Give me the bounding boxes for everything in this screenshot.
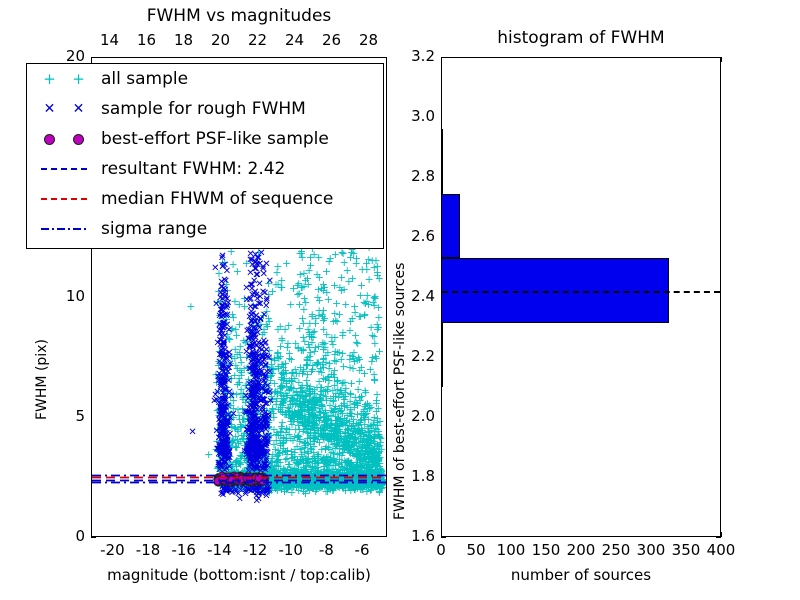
scatter-point-rough-fwhm: ✕	[262, 441, 270, 449]
scatter-point-rough-fwhm: ✕	[229, 411, 237, 419]
scatter-point-rough-fwhm: ✕	[261, 290, 269, 298]
scatter-point-all-sample: +	[321, 488, 330, 496]
scatter-point-rough-fwhm: ✕	[262, 340, 270, 348]
scatter-point-rough-fwhm: ✕	[255, 325, 263, 333]
scatter-point-all-sample: +	[186, 303, 195, 311]
scatter-point-all-sample: +	[276, 440, 285, 448]
scatter-point-all-sample: +	[306, 262, 315, 270]
scatter-point-all-sample: +	[317, 446, 326, 454]
scatter-point-rough-fwhm: ✕	[258, 359, 266, 367]
scatter-point-all-sample: +	[300, 387, 309, 395]
scatter-point-all-sample: +	[367, 358, 376, 366]
scatter-point-all-sample: +	[339, 363, 348, 371]
scatter-point-all-sample: +	[282, 260, 291, 268]
scatter-point-all-sample: +	[340, 379, 349, 387]
scatter-point-rough-fwhm: ✕	[219, 487, 227, 495]
scatter-point-rough-fwhm: ✕	[266, 278, 274, 286]
scatter-point-rough-fwhm: ✕	[256, 301, 264, 309]
scatter-point-all-sample: +	[301, 415, 310, 423]
scatter-point-all-sample: +	[343, 402, 352, 410]
scatter-point-all-sample: +	[337, 249, 346, 257]
scatter-point-all-sample: +	[364, 256, 373, 264]
scatter-point-all-sample: +	[369, 371, 378, 379]
scatter-point-all-sample: +	[339, 286, 348, 294]
scatter-point-rough-fwhm: ✕	[214, 374, 222, 382]
figure-canvas: FWHM vs magnitudes 1416182022242628 -20-…	[0, 0, 800, 600]
scatter-point-all-sample: +	[284, 431, 293, 439]
scatter-point-all-sample: +	[338, 329, 347, 337]
scatter-point-rough-fwhm: ✕	[218, 350, 226, 358]
scatter-point-rough-fwhm: ✕	[223, 268, 231, 276]
y-tick-label: 10	[47, 287, 85, 305]
scatter-point-all-sample: +	[284, 322, 293, 330]
scatter-point-all-sample: +	[353, 386, 362, 394]
scatter-point-all-sample: +	[338, 419, 347, 427]
scatter-point-rough-fwhm: ✕	[263, 422, 271, 430]
scatter-point-rough-fwhm: ✕	[246, 251, 254, 259]
scatter-point-all-sample: +	[276, 323, 285, 331]
scatter-point-rough-fwhm: ✕	[256, 316, 264, 324]
scatter-point-rough-fwhm: ✕	[224, 403, 232, 411]
scatter-point-rough-fwhm: ✕	[223, 303, 231, 311]
scatter-point-rough-fwhm: ✕	[259, 266, 267, 274]
scatter-point-all-sample: +	[299, 306, 308, 314]
scatter-point-all-sample: +	[293, 434, 302, 442]
left-panel-ylabel: FWHM (pix)	[34, 339, 50, 420]
scatter-point-all-sample: +	[366, 422, 375, 430]
scatter-point-all-sample: +	[272, 269, 281, 277]
tick-mark-y	[91, 537, 96, 538]
scatter-point-all-sample: +	[296, 364, 305, 372]
scatter-point-all-sample: +	[285, 355, 294, 363]
scatter-point-all-sample: +	[353, 411, 362, 419]
scatter-point-all-sample: +	[350, 425, 359, 433]
scatter-point-all-sample: +	[370, 340, 379, 348]
scatter-point-all-sample: +	[310, 394, 319, 402]
scatter-point-all-sample: +	[327, 334, 336, 342]
scatter-point-all-sample: +	[332, 378, 341, 386]
scatter-point-all-sample: +	[314, 343, 323, 351]
x-top-tick-label: 28	[347, 31, 391, 49]
scatter-point-rough-fwhm: ✕	[250, 278, 258, 286]
scatter-point-all-sample: +	[360, 370, 369, 378]
scatter-point-all-sample: +	[329, 318, 338, 326]
scatter-point-all-sample: +	[369, 299, 378, 307]
scatter-point-all-sample: +	[356, 313, 365, 321]
scatter-point-all-sample: +	[364, 276, 373, 284]
left-panel-xlabel: magnitude (bottom:isnt / top:calib)	[91, 566, 387, 584]
scatter-point-rough-fwhm: ✕	[244, 327, 252, 335]
scatter-point-all-sample: +	[324, 365, 333, 373]
scatter-point-all-sample: +	[371, 440, 380, 448]
scatter-point-rough-fwhm: ✕	[253, 498, 261, 506]
scatter-point-all-sample: +	[333, 349, 342, 357]
left-panel-title: FWHM vs magnitudes	[91, 6, 387, 26]
scatter-point-all-sample: +	[373, 321, 382, 329]
scatter-point-rough-fwhm: ✕	[226, 361, 234, 369]
scatter-point-all-sample: +	[367, 458, 376, 466]
scatter-point-rough-fwhm: ✕	[221, 293, 229, 301]
scatter-point-all-sample: +	[310, 251, 319, 259]
scatter-point-rough-fwhm: ✕	[218, 255, 226, 263]
scatter-point-all-sample: +	[287, 448, 296, 456]
scatter-point-rough-fwhm: ✕	[257, 250, 265, 258]
x-tick-label: -6	[340, 541, 384, 559]
scatter-point-all-sample: +	[359, 437, 368, 445]
scatter-point-all-sample: +	[374, 405, 383, 413]
scatter-point-all-sample: +	[310, 420, 319, 428]
scatter-point-all-sample: +	[301, 277, 310, 285]
scatter-point-all-sample: +	[353, 340, 362, 348]
scatter-point-all-sample: +	[302, 377, 311, 385]
scatter-point-all-sample: +	[305, 331, 314, 339]
scatter-point-all-sample: +	[310, 429, 319, 437]
scatter-point-all-sample: +	[322, 289, 331, 297]
scatter-point-rough-fwhm: ✕	[217, 429, 225, 437]
scatter-point-all-sample: +	[320, 407, 329, 415]
scatter-point-all-sample: +	[305, 353, 314, 361]
scatter-point-rough-fwhm: ✕	[258, 386, 266, 394]
scatter-point-rough-fwhm: ✕	[217, 279, 225, 287]
y-tick-label: 5	[47, 407, 85, 425]
scatter-point-rough-fwhm: ✕	[243, 449, 251, 457]
scatter-point-rough-fwhm: ✕	[219, 340, 227, 348]
scatter-point-rough-fwhm: ✕	[266, 398, 274, 406]
scatter-point-all-sample: +	[341, 301, 350, 309]
scatter-point-rough-fwhm: ✕	[245, 425, 253, 433]
scatter-point-rough-fwhm: ✕	[218, 328, 226, 336]
scatter-point-all-sample: +	[278, 402, 287, 410]
scatter-point-rough-fwhm: ✕	[188, 429, 196, 437]
scatter-point-rough-fwhm: ✕	[211, 265, 219, 273]
scatter-point-rough-fwhm: ✕	[247, 380, 255, 388]
scatter-point-all-sample: +	[315, 307, 324, 315]
scatter-point-rough-fwhm: ✕	[217, 420, 225, 428]
scatter-point-all-sample: +	[353, 400, 362, 408]
y-tick-label: 0	[47, 527, 85, 545]
scatter-point-all-sample: +	[340, 259, 349, 267]
scatter-point-rough-fwhm: ✕	[220, 446, 228, 454]
scatter-point-all-sample: +	[346, 448, 355, 456]
scatter-point-all-sample: +	[355, 356, 364, 364]
scatter-point-all-sample: +	[296, 401, 305, 409]
scatter-point-all-sample: +	[375, 275, 384, 283]
scatter-point-rough-fwhm: ✕	[264, 488, 272, 496]
scatter-point-rough-fwhm: ✕	[235, 496, 243, 504]
